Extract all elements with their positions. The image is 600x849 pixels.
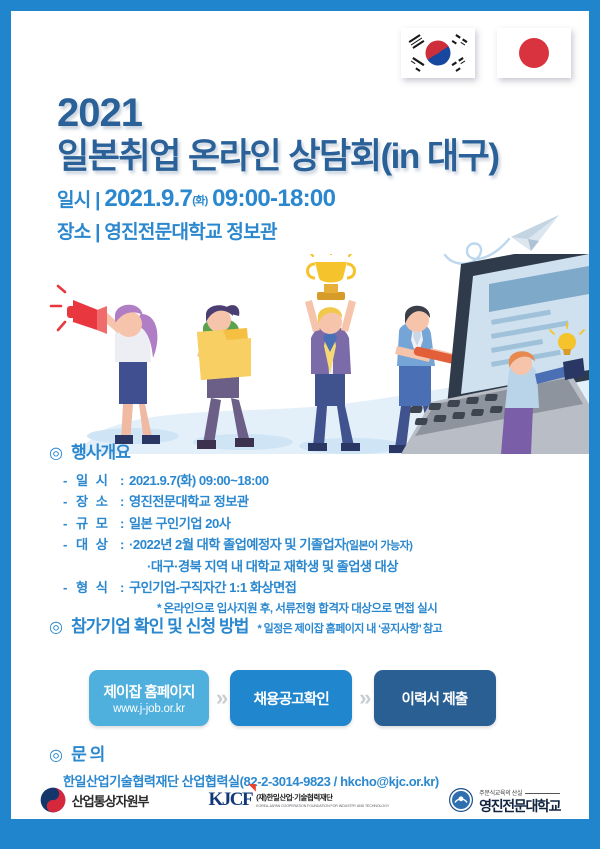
row-dash: - (63, 534, 76, 556)
apply-section: ◎ 참가기업 확인 및 신청 방법 * 일정은 제이잡 홈페이지 내 ‘공지사항… (49, 612, 442, 637)
yeungjin-name: 영진전문대학교 (479, 799, 560, 813)
trigram-geon (409, 34, 425, 49)
ring-icon: ◎ (49, 745, 62, 765)
overview-row: - 형 식 : 구인기업-구직자간 1:1 화상면접 (63, 577, 437, 598)
row-label: 규 모 (76, 513, 120, 534)
poster-title: 일본취업 온라인 상담회(in 대구) (57, 137, 499, 176)
contact-heading: ◎ 문 의 (49, 740, 439, 765)
row-dash: - (63, 491, 76, 512)
logo-yeungjin: 주문식교육의 산실 영진전문대학교 (449, 788, 560, 813)
apply-heading: ◎ 참가기업 확인 및 신청 방법 * 일정은 제이잡 홈페이지 내 ‘공지사항… (49, 612, 442, 637)
overview-row: - 장 소 : 영진전문대학교 정보관 (63, 491, 437, 512)
overview-heading-label: 행사개요 (71, 438, 130, 463)
yeungjin-text: 주문식교육의 산실 영진전문대학교 (479, 788, 560, 813)
motie-label: 산업통상자원부 (72, 791, 149, 810)
row-value: 2021.9.7(화) 09:00~18:00 (129, 470, 269, 491)
place-value: 영진전문대학교 정보관 (104, 222, 276, 243)
event-illustration (11, 254, 589, 454)
logo-kjcf: KJCF ◥ (재)한일산업·기술협력재단 KOREA-JAPAN COOPER… (209, 789, 390, 811)
row-colon: : (120, 577, 129, 598)
row-colon: : (120, 534, 129, 556)
kjcf-english-name: KOREA-JAPAN COOPERATION FOUNDATION FOR I… (256, 804, 389, 808)
poster: 2021 일본취업 온라인 상담회(in 대구) 일시 | 2021.9.7(화… (0, 0, 600, 849)
row-label: 일 시 (76, 470, 120, 491)
place-label: 장소 (57, 222, 91, 243)
date-separator: | (95, 190, 100, 211)
overview-subrow: ·대구·경북 지역 내 대학교 재학생 및 졸업생 대상 (63, 556, 437, 577)
flow-step-url: www.j-job.or.kr (113, 703, 185, 715)
overview-row: - 일 시 : 2021.9.7(화) 09:00~18:00 (63, 470, 437, 491)
logo-motie: 산업통상자원부 (40, 787, 149, 813)
flow-step-jjob-homepage[interactable]: 제이잡 홈페이지 www.j-job.or.kr (89, 670, 209, 726)
yeungjin-rule (525, 793, 560, 794)
place-separator: | (95, 222, 100, 243)
apply-flow: 제이잡 홈페이지 www.j-job.or.kr » 채용공고확인 » 이력서 … (89, 670, 496, 726)
trigram-gon (452, 57, 468, 72)
overview-row: - 규 모 : 일본 구인기업 20사 (63, 513, 437, 534)
overview-section: ◎ 행사개요 - 일 시 : 2021.9.7(화) 09:00~18:00 -… (49, 438, 437, 621)
flow-step-title: 채용공고확인 (254, 688, 329, 709)
row-dash: - (63, 577, 76, 598)
row-label: 대 상 (76, 534, 120, 556)
poster-sheet: 2021 일본취업 온라인 상담회(in 대구) 일시 | 2021.9.7(화… (11, 11, 589, 819)
flag-row (401, 28, 571, 78)
row-value-note: (일본어 가능자) (346, 540, 413, 552)
motie-taeguk-icon (40, 787, 66, 813)
korea-flag-icon (401, 28, 475, 78)
flow-step-title: 제이잡 홈페이지 (103, 681, 194, 702)
overview-row: - 대 상 : ·2022년 2월 대학 졸업예정자 및 기졸업자(일본어 가능… (63, 534, 437, 556)
row-colon: : (120, 470, 129, 491)
row-value: 구인기업-구직자간 1:1 화상면접 (129, 577, 296, 598)
taeguk-symbol (421, 36, 456, 71)
megaphone-person (51, 286, 160, 444)
flow-step-check-job-posting[interactable]: 채용공고확인 (230, 670, 352, 726)
overview-rows: - 일 시 : 2021.9.7(화) 09:00~18:00 - 장 소 : … (63, 470, 437, 621)
poster-year: 2021 (57, 93, 499, 133)
trigram-gam (452, 34, 468, 49)
yeungjin-tagline: 주문식교육의 산실 (479, 788, 522, 797)
row-label: 장 소 (76, 491, 120, 512)
trigram-ri (409, 57, 425, 72)
date-time: 09:00-18:00 (212, 185, 335, 212)
date-weekday: (화) (192, 195, 207, 207)
flow-step-title: 이력서 제출 (402, 688, 468, 709)
date-day: 9.7 (161, 185, 192, 212)
hinomaru-disc (519, 38, 549, 68)
date-prefix: 2021. (104, 185, 161, 212)
kjcf-mark-text: KJCF (209, 789, 253, 810)
row-colon: : (120, 513, 129, 534)
row-value: ·2022년 2월 대학 졸업예정자 및 기졸업자 (129, 537, 346, 552)
sponsor-logo-row: 산업통상자원부 KJCF ◥ (재)한일산업·기술협력재단 KOREA-JAPA… (11, 787, 589, 813)
japan-flag-icon (497, 28, 571, 78)
chevron-right-icon: » (359, 687, 366, 709)
row-label: 형 식 (76, 577, 120, 598)
ring-icon: ◎ (49, 443, 62, 463)
apply-heading-label: 참가기업 확인 및 신청 방법 (71, 612, 248, 637)
contact-section: ◎ 문 의 한일산업기술협력재단 산업협력실(82-2-3014-9823 / … (49, 740, 439, 790)
contact-heading-label: 문 의 (71, 740, 104, 765)
row-dash: - (63, 470, 76, 491)
yeungjin-emblem-icon (449, 788, 473, 812)
row-value: 영진전문대학교 정보관 (129, 491, 249, 512)
kjcf-mark: KJCF ◥ (209, 789, 253, 811)
flow-step-submit-resume[interactable]: 이력서 제출 (374, 670, 496, 726)
row-value: 일본 구인기업 20사 (129, 513, 230, 534)
chevron-right-icon: » (216, 687, 223, 709)
date-label: 일시 (57, 190, 91, 211)
apply-note: * 일정은 제이잡 홈페이지 내 ‘공지사항’ 참고 (258, 620, 443, 636)
kjcf-accent-icon: ◥ (249, 782, 254, 793)
kjcf-korean-name: (재)한일산업·기술협력재단 (256, 792, 389, 803)
row-dash: - (63, 513, 76, 534)
kjcf-subtitle: (재)한일산업·기술협력재단 KOREA-JAPAN COOPERATION F… (256, 792, 389, 808)
overview-heading: ◎ 행사개요 (49, 438, 437, 463)
row-colon: : (120, 491, 129, 512)
ring-icon: ◎ (49, 617, 62, 637)
